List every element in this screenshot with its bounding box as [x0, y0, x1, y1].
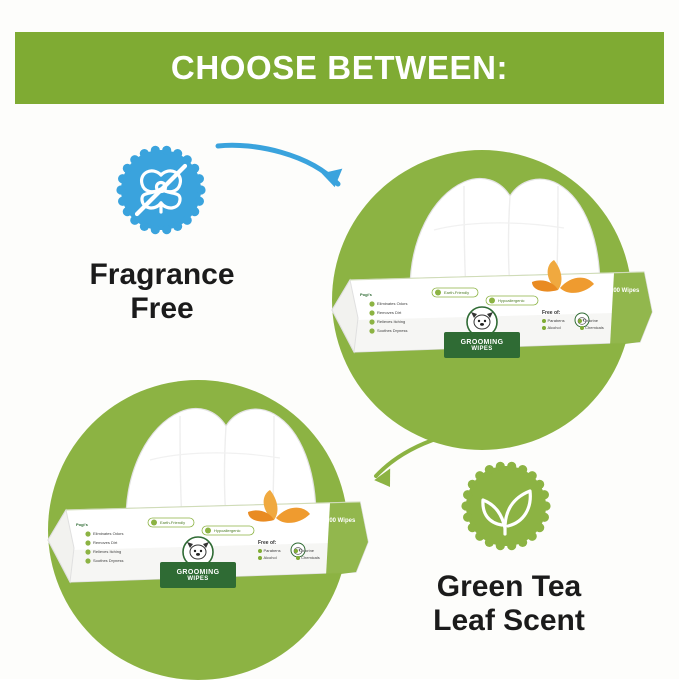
free-of-text-top-0: Parabens	[548, 318, 565, 323]
claim-text-top-1: Removes Dirt	[377, 310, 401, 315]
green-tea-label-line2: Leaf Scent	[384, 604, 634, 638]
poster-canvas: CHOOSE BETWEEN:	[0, 0, 679, 679]
free-of-box-top: Free of: Parabens Chlorine Alcohol Chemi…	[542, 310, 604, 326]
claim-row-top-0: Eliminates Odors	[377, 301, 407, 306]
wipe-count-top: 100 Wipes	[610, 288, 639, 294]
claim-row-top-2: Relieves Itching	[377, 319, 405, 324]
claim-text-bottom-2: Relieves Itching	[93, 549, 121, 554]
product-title-bar-bottom: GROOMING WIPES	[160, 562, 236, 588]
free-of-row-top-1: Alcohol Chemicals	[542, 325, 604, 330]
product-pack-bottom: GROOMING WIPES Pogi's Eliminates Odors R…	[30, 400, 380, 610]
free-of-title-top: Free of:	[542, 310, 604, 316]
wipe-tissue-bottom	[126, 408, 316, 520]
claim-text-bottom-3: Soothes Dryness	[93, 558, 123, 563]
claim-row-bottom-3: Soothes Dryness	[93, 558, 123, 563]
claim-text-bottom-1: Removes Dirt	[93, 540, 117, 545]
free-of-text-top-2: Alcohol	[548, 325, 561, 330]
free-of-row-bottom-0: Parabens Chlorine	[258, 548, 320, 553]
free-of-text-top-3: Chemicals	[585, 325, 604, 330]
brand-name-bottom: Pogi's	[76, 522, 88, 527]
claim-row-bottom-1: Removes Dirt	[93, 540, 117, 545]
product-title-line1-bottom: GROOMING	[177, 569, 220, 576]
free-of-text-bottom-1: Chlorine	[299, 548, 314, 553]
claim-text-top-3: Soothes Dryness	[377, 328, 407, 333]
product-title-line2-top: WIPES	[471, 346, 492, 352]
claim-text-top-0: Eliminates Odors	[377, 301, 407, 306]
brand-name-top: Pogi's	[360, 292, 372, 297]
wipe-tissue-top	[410, 178, 600, 290]
free-of-text-bottom-2: Alcohol	[264, 555, 277, 560]
claim-row-bottom-2: Relieves Itching	[93, 549, 121, 554]
product-pack-top: GROOMING WIPES Pogi's Eliminates Odors R…	[314, 170, 664, 380]
product-title-bar-top: GROOMING WIPES	[444, 332, 520, 358]
claim-row-bottom-0: Eliminates Odors	[93, 531, 123, 536]
badge-bottom-0: Earth-Friendly	[160, 520, 185, 525]
badge-top-0: Earth-Friendly	[444, 290, 469, 295]
badge-top-1: Hypoallergenic	[498, 298, 524, 303]
product-title-line1-top: GROOMING	[461, 339, 504, 346]
wipe-count-bottom: 100 Wipes	[326, 518, 355, 524]
page-title: CHOOSE BETWEEN:	[171, 49, 508, 87]
claim-row-top-1: Removes Dirt	[377, 310, 401, 315]
free-of-text-bottom-3: Chemicals	[301, 555, 320, 560]
free-of-row-top-0: Parabens Chlorine	[542, 318, 604, 323]
free-of-text-top-1: Chlorine	[583, 318, 598, 323]
fragrance-free-label-line2: Free	[44, 292, 280, 326]
fragrance-free-label: Fragrance Free	[44, 258, 280, 325]
fragrance-free-label-line1: Fragrance	[44, 258, 280, 292]
green-tea-label: Green Tea Leaf Scent	[384, 570, 634, 637]
free-of-box-bottom: Free of: Parabens Chlorine Alcohol Chemi…	[258, 540, 320, 556]
claim-text-top-2: Relieves Itching	[377, 319, 405, 324]
badge-bottom-1: Hypoallergenic	[214, 528, 240, 533]
free-of-title-bottom: Free of:	[258, 540, 320, 546]
free-of-text-bottom-0: Parabens	[264, 548, 281, 553]
claim-text-bottom-0: Eliminates Odors	[93, 531, 123, 536]
no-fragrance-icon	[113, 142, 209, 238]
claim-row-top-3: Soothes Dryness	[377, 328, 407, 333]
product-title-line2-bottom: WIPES	[187, 576, 208, 582]
header-banner: CHOOSE BETWEEN:	[15, 32, 664, 104]
green-tea-label-line1: Green Tea	[384, 570, 634, 604]
free-of-row-bottom-1: Alcohol Chemicals	[258, 555, 320, 560]
